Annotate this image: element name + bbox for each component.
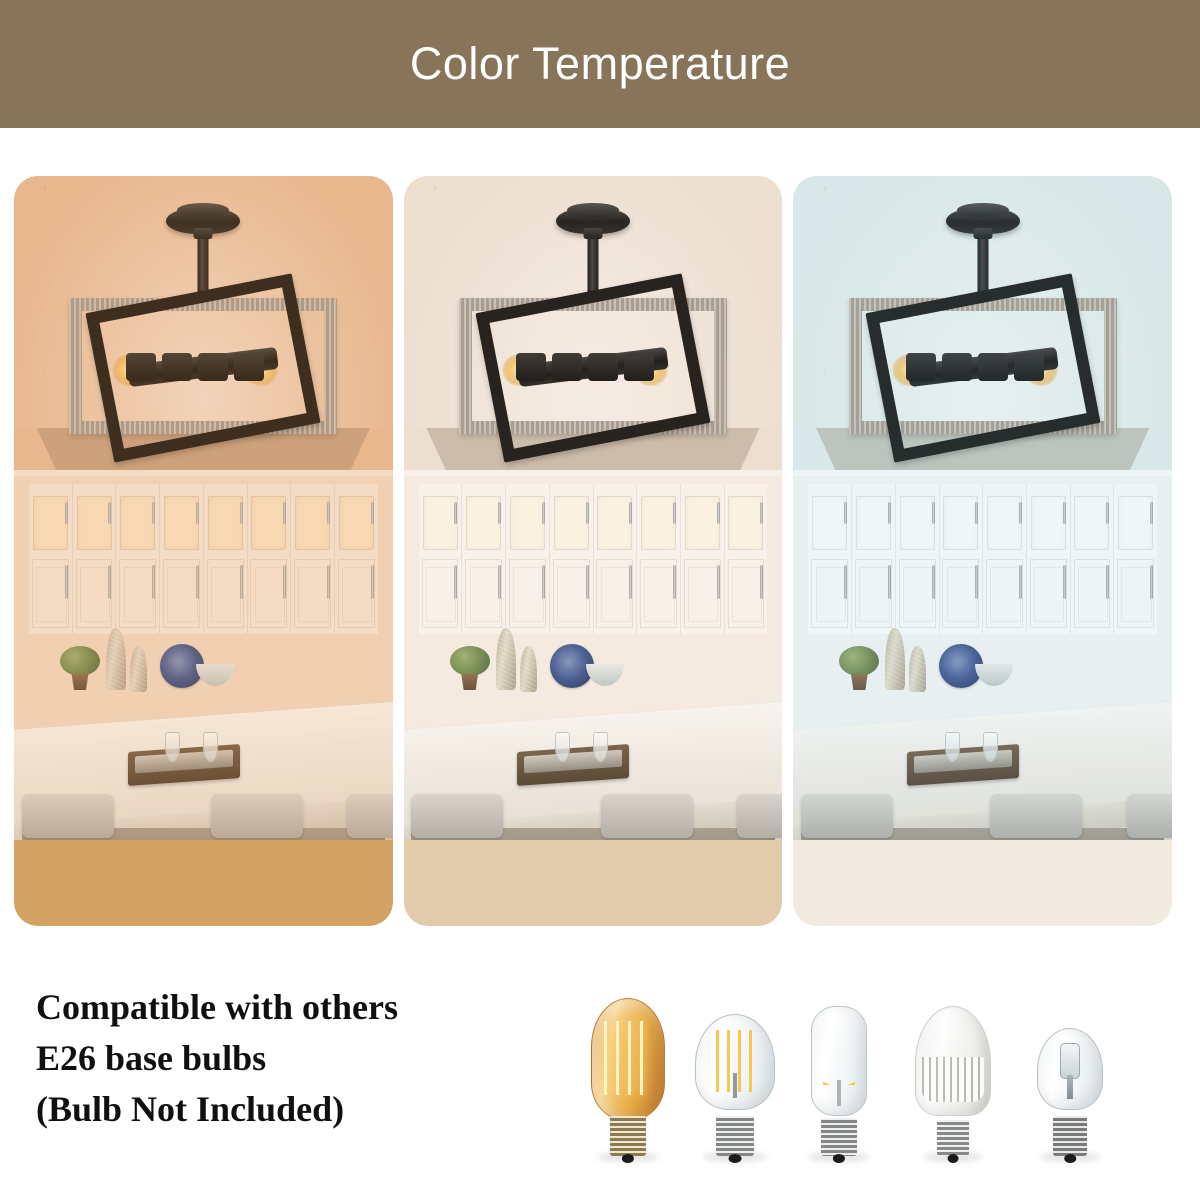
cabinet-pull-icon — [65, 565, 68, 599]
cabinet-column — [940, 484, 984, 634]
cabinet-pull-icon — [240, 502, 243, 524]
temperature-label-bar — [793, 840, 1172, 926]
cabinet-door — [207, 559, 244, 628]
cabinet-pull-icon — [932, 565, 935, 599]
cabinet-column — [419, 484, 463, 634]
plant-icon — [60, 646, 100, 676]
bar-stool — [211, 794, 303, 838]
filament-stem — [837, 1080, 841, 1106]
compatibility-note: Compatible with others E26 base bulbs (B… — [36, 982, 556, 1135]
bulb-screw-base-e26 — [821, 1118, 857, 1156]
cabinet-glass-panel — [987, 496, 1022, 550]
cabinet-glass-panel — [1031, 496, 1066, 550]
cabinet-glass-panel — [33, 496, 68, 550]
cabinet-column — [116, 484, 160, 634]
cabinet-column — [462, 484, 506, 634]
cabinet-column — [983, 484, 1027, 634]
cabinet-pull-icon — [371, 565, 374, 599]
cabinet-pull-icon — [1150, 565, 1153, 599]
cabinet-pull-icon — [1019, 565, 1022, 599]
cabinet-door — [119, 559, 156, 628]
cabinet-glass-panel — [597, 496, 632, 550]
cabinet-pull-icon — [542, 502, 545, 524]
cabinet-door — [855, 559, 892, 628]
cabinet-door — [1117, 559, 1154, 628]
cabinet-pull-icon — [975, 502, 978, 524]
cabinet-pull-icon — [542, 565, 545, 599]
base-threads — [610, 1116, 646, 1156]
cabinet-column — [160, 484, 204, 634]
cabinet-glass-panel — [423, 496, 458, 550]
bulb-socket — [624, 353, 654, 381]
cabinet-pull-icon — [717, 502, 720, 524]
cabinet-glass-panel — [77, 496, 112, 550]
kitchen-scene-photo — [793, 176, 1172, 840]
cabinet-column — [204, 484, 248, 634]
cabinet-glass-panel — [943, 496, 978, 550]
bulb-socket — [162, 353, 192, 381]
temperature-label-bar — [14, 840, 393, 926]
cabinet-door — [338, 559, 375, 628]
bulb-socket — [198, 353, 228, 381]
base-threads — [937, 1120, 969, 1156]
bulb-screw-base-e26 — [1053, 1116, 1087, 1156]
cabinet-pull-icon — [629, 502, 632, 524]
wine-glass — [555, 732, 570, 762]
footer-section: Compatible with others E26 base bulbs (B… — [0, 960, 1200, 1200]
cabinet-glass-panel — [164, 496, 199, 550]
compatibility-line-3: (Bulb Not Included) — [36, 1084, 556, 1135]
cabinet-pull-icon — [888, 502, 891, 524]
cabinet-door — [32, 559, 69, 628]
semi-flush-mount-light-fixture — [38, 198, 368, 448]
cabinet-glass-panel — [728, 496, 763, 550]
cabinet-door — [728, 559, 765, 628]
a19-frosted-led-bulb — [915, 980, 991, 1156]
cabinet-pull-icon — [673, 565, 676, 599]
cabinet-glass-panel — [295, 496, 330, 550]
cabinet-pull-icon — [371, 502, 374, 524]
bulb-socket — [516, 353, 546, 381]
cabinet-pull-icon — [975, 565, 978, 599]
cabinet-pull-icon — [1106, 565, 1109, 599]
cabinet-pull-icon — [152, 502, 155, 524]
cabinet-pull-icon — [844, 502, 847, 524]
cabinet-glass-panel — [208, 496, 243, 550]
cabinet-pull-icon — [327, 502, 330, 524]
header-banner: Color Temperature — [0, 0, 1200, 128]
panel-4000k — [404, 176, 783, 926]
cabinet-column — [73, 484, 117, 634]
cabinet-pull-icon — [152, 565, 155, 599]
bar-stool — [1127, 794, 1172, 838]
filament — [604, 1021, 653, 1095]
cabinet-pull-icon — [498, 565, 501, 599]
wine-glass — [593, 732, 608, 762]
cabinet-pull-icon — [673, 502, 676, 524]
cabinet-pull-icon — [240, 565, 243, 599]
cabinet-pull-icon — [1063, 502, 1066, 524]
bulb-glass — [1037, 1028, 1103, 1110]
bulb-socket — [552, 353, 582, 381]
cabinet-glass-panel — [1074, 496, 1109, 550]
cabinet-door — [163, 559, 200, 628]
cabinet-door — [509, 559, 546, 628]
cabinet-column — [896, 484, 940, 634]
panel-6000k — [793, 176, 1172, 926]
cabinet-column — [1071, 484, 1115, 634]
cabinet-glass-panel — [554, 496, 589, 550]
bulb-socket — [1014, 353, 1044, 381]
panel-3000k — [14, 176, 393, 926]
cabinet-pull-icon — [196, 565, 199, 599]
cabinet-column — [852, 484, 896, 634]
cabinet-pull-icon — [888, 565, 891, 599]
cabinet-door — [294, 559, 331, 628]
a19-clear-halogen-bulb — [1037, 980, 1103, 1156]
bulb-socket — [942, 353, 972, 381]
cabinet-pull-icon — [1019, 502, 1022, 524]
bar-stool — [22, 794, 114, 838]
upper-cabinet-bank — [808, 484, 1156, 634]
cabinet-glass-panel — [510, 496, 545, 550]
cabinet-door — [640, 559, 677, 628]
base-threads — [821, 1118, 857, 1156]
cabinet-glass-panel — [900, 496, 935, 550]
cabinet-column — [291, 484, 335, 634]
cabinet-glass-panel — [685, 496, 720, 550]
cabinet-column — [1027, 484, 1071, 634]
wine-glass — [945, 732, 960, 762]
cabinet-pull-icon — [760, 565, 763, 599]
bar-stool — [411, 794, 503, 838]
halogen-capsule — [1060, 1043, 1080, 1078]
color-temperature-panel-row — [14, 176, 1172, 926]
bulb-screw-base-e26 — [937, 1120, 969, 1156]
cabinet-door — [596, 559, 633, 628]
cabinet-column — [681, 484, 725, 634]
st64-amber-edison-bulb — [591, 980, 665, 1156]
cabinet-column — [248, 484, 292, 634]
page-title: Color Temperature — [410, 38, 790, 90]
base-threads — [1053, 1116, 1087, 1156]
cabinet-door — [986, 559, 1023, 628]
cabinet-door — [811, 559, 848, 628]
cabinet-column — [594, 484, 638, 634]
cabinet-column — [1114, 484, 1157, 634]
cabinet-pull-icon — [629, 565, 632, 599]
t45-tubular-filament-bulb — [811, 980, 867, 1156]
cabinet-glass-panel — [466, 496, 501, 550]
bulb-socket — [588, 353, 618, 381]
cabinet-pull-icon — [65, 502, 68, 524]
bar-stool — [347, 794, 392, 838]
semi-flush-mount-light-fixture — [818, 198, 1148, 448]
cabinet-glass-panel — [856, 496, 891, 550]
filament-stem — [733, 1073, 738, 1097]
decor-vase — [520, 646, 537, 692]
cabinet-pull-icon — [586, 502, 589, 524]
cabinet-column — [506, 484, 550, 634]
cabinet-column — [637, 484, 681, 634]
plant-icon — [450, 646, 490, 676]
cabinet-column — [29, 484, 73, 634]
cabinet-pull-icon — [1063, 565, 1066, 599]
decor-vase — [496, 628, 516, 690]
bar-stool — [737, 794, 782, 838]
cabinet-door — [942, 559, 979, 628]
wine-glass — [983, 732, 998, 762]
bar-stool — [601, 794, 693, 838]
cabinet-glass-panel — [339, 496, 374, 550]
upper-cabinet-bank — [419, 484, 767, 634]
bulb-screw-base-e26 — [716, 1116, 754, 1156]
temperature-label-bar — [404, 840, 783, 926]
bulb-glass — [591, 998, 665, 1120]
cabinet-column — [550, 484, 594, 634]
cabinet-pull-icon — [932, 502, 935, 524]
cabinet-column — [725, 484, 768, 634]
decor-vase — [130, 646, 147, 692]
semi-flush-mount-light-fixture — [428, 198, 758, 448]
bulb-socket — [126, 353, 156, 381]
cabinet-pull-icon — [1150, 502, 1153, 524]
cabinet-pull-icon — [760, 502, 763, 524]
upper-cabinet-bank — [29, 484, 377, 634]
bar-stool — [801, 794, 893, 838]
cabinet-pull-icon — [844, 565, 847, 599]
cabinet-glass-panel — [1118, 496, 1153, 550]
cabinet-pull-icon — [283, 502, 286, 524]
decor-vase — [106, 628, 126, 690]
base-threads — [716, 1116, 754, 1156]
cabinet-door — [76, 559, 113, 628]
cabinet-column — [335, 484, 378, 634]
cabinet-pull-icon — [283, 565, 286, 599]
bulb-glass — [811, 1006, 867, 1116]
cabinet-pull-icon — [586, 565, 589, 599]
kitchen-scene-photo — [404, 176, 783, 840]
cabinet-door — [684, 559, 721, 628]
cabinet-door — [1074, 559, 1111, 628]
cabinet-door — [250, 559, 287, 628]
cabinet-glass-panel — [641, 496, 676, 550]
cabinet-glass-panel — [120, 496, 155, 550]
cabinet-pull-icon — [1106, 502, 1109, 524]
cabinet-door — [465, 559, 502, 628]
kitchen-scene-photo — [14, 176, 393, 840]
bulb-socket — [978, 353, 1008, 381]
bulb-socket — [906, 353, 936, 381]
cabinet-door — [1030, 559, 1067, 628]
cabinet-pull-icon — [196, 502, 199, 524]
cabinet-glass-panel — [812, 496, 847, 550]
bulb-socket — [234, 353, 264, 381]
cabinet-column — [808, 484, 852, 634]
compatible-bulb-strip — [585, 966, 1185, 1156]
cabinet-glass-panel — [251, 496, 286, 550]
bar-stool — [990, 794, 1082, 838]
capsule-stem — [1067, 1075, 1073, 1099]
cabinet-pull-icon — [327, 565, 330, 599]
cabinet-door — [553, 559, 590, 628]
heatsink-fins — [922, 1057, 984, 1102]
bulb-glass — [695, 1014, 775, 1110]
filament — [823, 1029, 855, 1085]
compatibility-line-1: Compatible with others — [36, 982, 556, 1033]
compatibility-line-2: E26 base bulbs — [36, 1033, 556, 1084]
cabinet-pull-icon — [717, 565, 720, 599]
bulb-glass — [915, 1006, 991, 1116]
cabinet-pull-icon — [498, 502, 501, 524]
cabinet-door — [422, 559, 459, 628]
cabinet-door — [899, 559, 936, 628]
a19-clear-filament-bulb — [695, 980, 775, 1156]
bulb-screw-base-e26 — [610, 1116, 646, 1156]
